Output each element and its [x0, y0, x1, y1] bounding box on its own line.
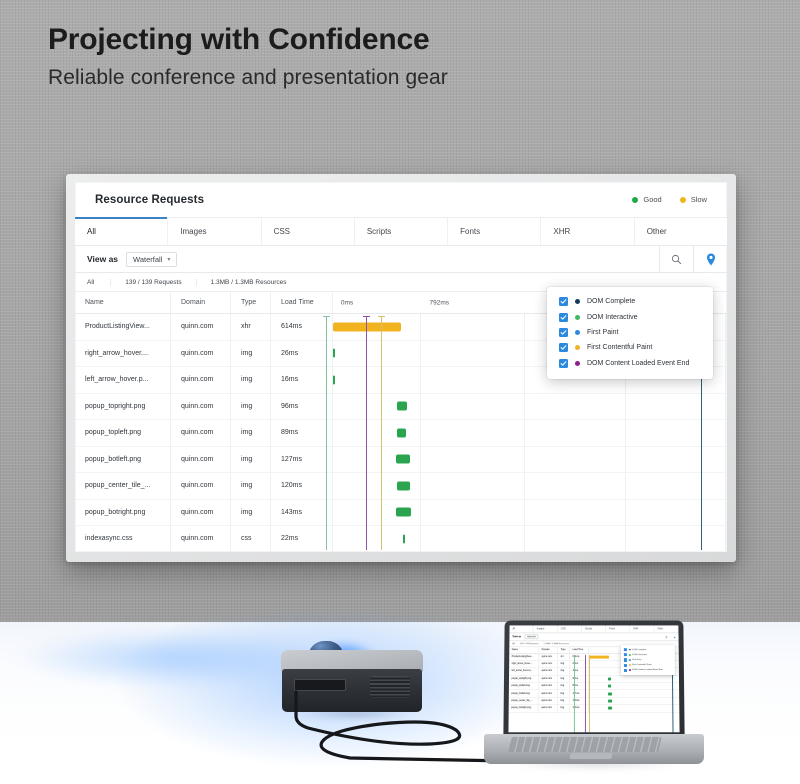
table-row[interactable]: popup_topleft.pngquinn.comimg89ms — [75, 420, 727, 447]
waterfall-bar[interactable] — [333, 375, 335, 384]
waterfall-bar[interactable] — [396, 508, 411, 517]
cell-waterfall — [333, 473, 727, 499]
cell-load-time: 22ms — [271, 526, 333, 552]
stat-item-0: All — [87, 279, 110, 286]
legend-dot-icon — [632, 197, 638, 203]
chevron-down-icon: ▾ — [167, 256, 170, 263]
cell-load-time: 120ms — [271, 473, 333, 499]
waterfall-gridline — [524, 500, 525, 526]
cell-type: img — [231, 394, 271, 420]
checkbox[interactable] — [559, 359, 568, 368]
timeline-tick-1: 792ms — [430, 299, 450, 306]
waterfall-gridline — [725, 447, 726, 473]
waterfall-gridline — [524, 447, 525, 473]
waterfall-gridline — [524, 341, 525, 367]
heading-block: Projecting with Confidence Reliable conf… — [48, 20, 748, 94]
map-pin-icon — [706, 253, 716, 266]
tab-css[interactable]: CSS — [262, 218, 355, 245]
checkbox[interactable] — [559, 343, 568, 352]
cell-name: popup_topright.png — [75, 394, 171, 420]
status-legend: GoodSlow — [632, 195, 707, 204]
waterfall-gridline — [725, 367, 726, 393]
cell-type: img — [231, 447, 271, 473]
waterfall-bar[interactable] — [403, 534, 405, 543]
waterfall-gridline — [420, 314, 421, 340]
cell-name: left_arrow_hover.p... — [75, 367, 171, 393]
waterfall-bar[interactable] — [397, 481, 410, 490]
laptop-lid: AllImagesCSSScriptsFontsXHROther View as… — [503, 621, 684, 739]
mini-stat-1: 139 / 139 Requests — [520, 643, 539, 645]
waterfall-gridline — [625, 394, 626, 420]
waterfall-gridline — [524, 367, 525, 393]
search-button[interactable] — [659, 246, 693, 273]
legend-label: Slow — [691, 195, 707, 204]
cell-domain: quinn.com — [171, 367, 231, 393]
mini-metric-dot-icon — [629, 669, 631, 671]
waterfall-gridline — [625, 526, 626, 552]
waterfall-gridline — [524, 526, 525, 552]
waterfall-gridline — [625, 420, 626, 446]
cell-name: popup_botleft.png — [75, 447, 171, 473]
cell-name: popup_topleft.png — [75, 420, 171, 446]
page-subtitle: Reliable conference and presentation gea… — [48, 62, 748, 94]
cell-waterfall — [333, 420, 727, 446]
cell-type: img — [231, 473, 271, 499]
mini-tab-all: All — [509, 625, 533, 632]
mini-map-pin-icon: ● — [673, 635, 675, 639]
cell-domain: quinn.com — [171, 500, 231, 526]
waterfall-gridline — [725, 394, 726, 420]
cell-waterfall — [333, 526, 727, 552]
cell-load-time: 89ms — [271, 420, 333, 446]
dropdown-item-1[interactable]: DOM Interactive — [547, 309, 713, 324]
tab-fonts[interactable]: Fonts — [448, 218, 541, 245]
mini-marker-dom-content-loaded-event-end — [585, 655, 586, 732]
metric-dot-icon — [575, 299, 580, 304]
column-header-name[interactable]: Name — [75, 292, 171, 313]
tab-bar[interactable]: AllImagesCSSScriptsFontsXHROther — [75, 218, 727, 246]
mini-dropdown-item-4: DOM Content Loaded Event End — [621, 668, 675, 673]
panel-header: Resource Requests GoodSlow — [75, 182, 727, 218]
dropdown-item-label: DOM Content Loaded Event End — [587, 360, 689, 367]
table-row[interactable]: popup_center_tile_...quinn.comimg120ms — [75, 473, 727, 500]
table-row[interactable]: popup_topright.pngquinn.comimg96ms — [75, 394, 727, 421]
waterfall-gridline — [625, 473, 626, 499]
waterfall-gridline — [420, 341, 421, 367]
dropdown-item-label: First Paint — [587, 329, 619, 336]
waterfall-gridline — [625, 447, 626, 473]
mini-dropdown-label: First Contentful Paint — [632, 664, 651, 666]
projection-screen-frame: Resource Requests GoodSlow AllImagesCSSS… — [66, 174, 736, 562]
stat-item-1: 139 / 139 Requests — [110, 279, 195, 286]
mini-search-icon: ⚲ — [665, 635, 667, 639]
cell-name: indexasync.css — [75, 526, 171, 552]
cell-waterfall — [333, 394, 727, 420]
mini-tab-bar: AllImagesCSSScriptsFontsXHROther — [509, 625, 678, 633]
mini-checkbox — [624, 648, 627, 651]
waterfall-gridline — [420, 473, 421, 499]
mini-marker-first-contentful-paint — [589, 655, 590, 732]
cell-load-time: 96ms — [271, 394, 333, 420]
mini-dropdown-label: DOM Content Loaded Event End — [632, 669, 662, 671]
column-header-load-time[interactable]: Load Time — [271, 292, 333, 313]
table-row[interactable]: indexasync.cssquinn.comcss22ms — [75, 526, 727, 552]
dropdown-item-4[interactable]: DOM Content Loaded Event End — [547, 356, 713, 371]
cell-type: img — [231, 341, 271, 367]
mini-tab-other: Other — [654, 625, 678, 632]
waterfall-gridline — [725, 341, 726, 367]
mini-checkbox — [624, 653, 627, 656]
mini-metric-dot-icon — [629, 654, 631, 656]
waterfall-gridline — [524, 473, 525, 499]
checkbox[interactable] — [559, 313, 568, 322]
laptop-keyboard — [508, 737, 662, 752]
mini-tab-scripts: Scripts — [582, 625, 606, 632]
waterfall-gridline — [725, 314, 726, 340]
waterfall-gridline — [420, 394, 421, 420]
mini-checkbox — [624, 669, 627, 672]
laptop: AllImagesCSSScriptsFontsXHROther View as… — [476, 620, 706, 784]
markers-dropdown-panel[interactable]: DOM CompleteDOM InteractiveFirst PaintFi… — [547, 287, 713, 379]
dropdown-item-0[interactable]: DOM Complete — [547, 294, 713, 309]
mini-markers-dropdown: DOM CompleteDOM InteractiveFirst PaintFi… — [621, 645, 675, 675]
table-row[interactable]: popup_botleft.pngquinn.comimg127ms — [75, 447, 727, 474]
waterfall-bar[interactable] — [397, 402, 407, 411]
cell-load-time: 16ms — [271, 367, 333, 393]
cell-domain: quinn.com — [171, 473, 231, 499]
cell-type: img — [231, 500, 271, 526]
waterfall-gridline — [420, 526, 421, 552]
cell-waterfall — [333, 447, 727, 473]
table-row[interactable]: popup_botright.pngquinn.comimg143ms — [75, 500, 727, 527]
mini-col-type: Type — [558, 647, 570, 652]
cell-type: img — [231, 420, 271, 446]
waterfall-gridline — [420, 420, 421, 446]
cell-name: popup_botright.png — [75, 500, 171, 526]
dropdown-item-2[interactable]: First Paint — [547, 325, 713, 340]
mini-metric-dot-icon — [629, 649, 631, 651]
laptop-base — [484, 734, 704, 764]
tab-scripts[interactable]: Scripts — [355, 218, 448, 245]
waterfall-gridline — [524, 420, 525, 446]
mini-tab-fonts: Fonts — [606, 625, 630, 632]
cell-load-time: 127ms — [271, 447, 333, 473]
metric-dot-icon — [575, 345, 580, 350]
cell-type: css — [231, 526, 271, 552]
metric-dot-icon — [575, 315, 580, 320]
waterfall-bar[interactable] — [333, 322, 401, 331]
waterfall-gridline — [625, 500, 626, 526]
legend-label: Good — [643, 195, 661, 204]
cell-load-time: 143ms — [271, 500, 333, 526]
mini-tab-xhr: XHR — [630, 625, 654, 632]
waterfall-gridline — [524, 314, 525, 340]
cell-load-time: 26ms — [271, 341, 333, 367]
tab-xhr[interactable]: XHR — [541, 218, 634, 245]
cell-domain: quinn.com — [171, 526, 231, 552]
mini-col-load: Load Time — [570, 647, 589, 652]
mini-metric-dot-icon — [629, 664, 631, 666]
mini-metric-dot-icon — [629, 659, 631, 661]
dropdown-item-label: DOM Interactive — [587, 314, 638, 321]
cell-name: popup_center_tile_... — [75, 473, 171, 499]
cell-domain: quinn.com — [171, 394, 231, 420]
mini-stat-0: All — [512, 643, 514, 645]
tab-all[interactable]: All — [75, 218, 168, 245]
mini-toolbar: View as Waterfall ⚲ ● — [509, 633, 678, 641]
timeline-tick-0: 0ms — [341, 299, 353, 306]
markers-button[interactable] — [693, 246, 727, 273]
mini-dropdown-label: DOM Complete — [632, 649, 646, 651]
waterfall-gridline — [725, 473, 726, 499]
waterfall-bar[interactable] — [333, 349, 335, 358]
cell-domain: quinn.com — [171, 420, 231, 446]
laptop-trackpad — [569, 753, 612, 759]
cell-waterfall — [333, 500, 727, 526]
mini-checkbox — [624, 664, 627, 667]
panel-title: Resource Requests — [95, 194, 204, 206]
mini-checkbox — [624, 658, 627, 661]
mini-dropdown-label: DOM Interactive — [632, 654, 647, 656]
legend-item-good: Good — [632, 195, 661, 204]
tab-images[interactable]: Images — [168, 218, 261, 245]
mini-dropdown-label: First Paint — [632, 659, 641, 661]
waterfall-gridline — [420, 500, 421, 526]
column-header-type[interactable]: Type — [231, 292, 271, 313]
mini-tab-images: Images — [534, 625, 558, 632]
legend-dot-icon — [680, 197, 686, 203]
cell-load-time: 614ms — [271, 314, 333, 340]
cell-type: xhr — [231, 314, 271, 340]
column-header-domain[interactable]: Domain — [171, 292, 231, 313]
mini-stat-2: 1.3MB / 1.3MB Resources — [544, 643, 569, 645]
mini-view-as-select: Waterfall — [524, 634, 539, 639]
dropdown-item-3[interactable]: First Contentful Paint — [547, 340, 713, 355]
waterfall-bar[interactable] — [397, 428, 406, 437]
waterfall-gridline — [420, 447, 421, 473]
waterfall-gridline — [725, 526, 726, 552]
mini-col-domain: Domain — [539, 647, 558, 652]
mini-view-as-label: View as — [512, 635, 521, 638]
projection-screen-surface: Resource Requests GoodSlow AllImagesCSSS… — [75, 182, 727, 552]
waterfall-gridline — [524, 394, 525, 420]
toolbar-left: View as Waterfall ▾ — [75, 252, 659, 267]
dropdown-item-label: First Contentful Paint — [587, 344, 652, 351]
metric-dot-icon — [575, 361, 580, 366]
cell-name: ProductListingView... — [75, 314, 171, 340]
mini-col-name: Name — [509, 647, 539, 652]
waterfall-gridline — [725, 500, 726, 526]
laptop-screen: AllImagesCSSScriptsFontsXHROther View as… — [508, 625, 679, 732]
cell-domain: quinn.com — [171, 341, 231, 367]
tab-other[interactable]: Other — [635, 218, 727, 245]
stat-item-2: 1.3MB / 1.3MB Resources — [196, 279, 301, 286]
legend-item-slow: Slow — [680, 195, 707, 204]
waterfall-bar[interactable] — [396, 455, 410, 464]
checkbox[interactable] — [559, 328, 568, 337]
view-as-label: View as — [87, 254, 118, 264]
view-as-select[interactable]: Waterfall ▾ — [126, 252, 177, 267]
cell-type: img — [231, 367, 271, 393]
search-icon — [671, 254, 682, 265]
waterfall-gridline — [725, 420, 726, 446]
waterfall-gridline — [420, 367, 421, 393]
metric-dot-icon — [575, 330, 580, 335]
page-title: Projecting with Confidence — [48, 20, 748, 60]
checkbox[interactable] — [559, 297, 568, 306]
dropdown-item-label: DOM Complete — [587, 298, 635, 305]
view-as-value: Waterfall — [133, 255, 162, 264]
mini-marker-dom-interactive — [574, 655, 575, 732]
cell-domain: quinn.com — [171, 447, 231, 473]
toolbar: View as Waterfall ▾ — [75, 246, 727, 273]
cell-domain: quinn.com — [171, 314, 231, 340]
mini-tab-css: CSS — [558, 625, 582, 632]
cell-name: right_arrow_hover.... — [75, 341, 171, 367]
